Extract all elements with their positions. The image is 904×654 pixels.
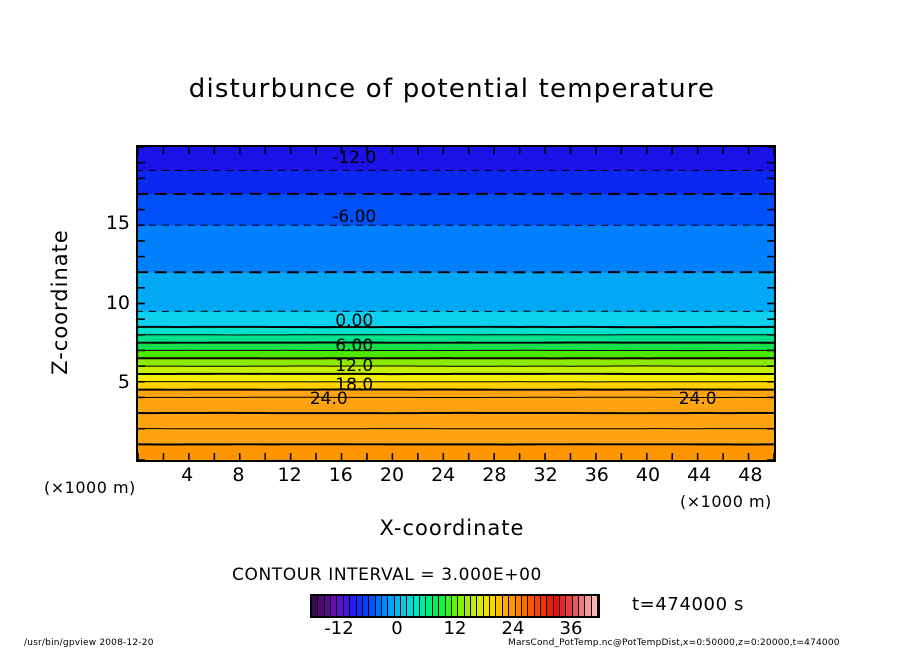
y-tick-label: 5: [90, 371, 130, 393]
colorbar-swatch: [592, 596, 598, 616]
footer-command: /usr/bin/gpview 2008-12-20: [24, 638, 154, 648]
contour-label-group: -12.0-6.000.006.0012.018.024.024.0: [138, 147, 774, 460]
contour-label: 0.00: [335, 311, 373, 331]
contour-label: -12.0: [332, 148, 376, 168]
x-tick-label: 36: [585, 464, 609, 486]
x-tick-label: 16: [329, 464, 353, 486]
contour-interval-text: CONTOUR INTERVAL = 3.000E+00: [232, 565, 542, 585]
y-axis-ticks: 51015: [86, 145, 130, 462]
colorbar-tick-label: 12: [444, 618, 467, 639]
colorbar-tick-label: 36: [560, 618, 583, 639]
colorbar-tick-label: 0: [391, 618, 402, 639]
x-axis-unit-label: (×1000 m): [680, 492, 772, 511]
x-tick-label: 40: [636, 464, 660, 486]
contour-interval-caption: CONTOUR INTERVAL = 3.000E+00: [0, 565, 904, 585]
contour-label: 6.00: [335, 336, 373, 356]
x-tick-label: 12: [278, 464, 302, 486]
footer-source: MarsCond_PotTemp.nc@PotTempDist,x=0:5000…: [508, 638, 840, 648]
colorbar-tick-label: -12: [324, 618, 353, 639]
x-tick-label: 32: [534, 464, 558, 486]
y-tick-label: 15: [90, 212, 130, 234]
contour-label: 24.0: [310, 389, 348, 409]
x-tick-label: 24: [431, 464, 455, 486]
colorbar-tick-labels: -120122436: [310, 618, 600, 640]
time-annotation: t=474000 s: [632, 594, 744, 615]
contour-plot-panel: -12.0-6.000.006.0012.018.024.024.0: [136, 145, 776, 462]
x-tick-label: 28: [482, 464, 506, 486]
page-title: disturbunce of potential temperature: [0, 74, 904, 104]
contour-label: 12.0: [335, 356, 373, 376]
x-tick-label: 4: [181, 464, 193, 486]
colorbar: -120122436: [310, 594, 600, 618]
y-axis-title: Z-coordinate: [48, 202, 72, 402]
x-tick-label: 8: [232, 464, 244, 486]
y-tick-label: 10: [90, 292, 130, 314]
y-axis-unit-label: (×1000 m): [44, 478, 136, 497]
colorbar-gradient: [310, 594, 600, 618]
contour-label: -6.00: [332, 207, 376, 227]
x-axis-title: X-coordinate: [0, 516, 904, 540]
contour-label: 24.0: [679, 389, 717, 409]
x-axis-ticks: 4812162024283236404448: [136, 464, 776, 490]
colorbar-tick-label: 24: [502, 618, 525, 639]
x-tick-label: 48: [738, 464, 762, 486]
x-tick-label: 44: [687, 464, 711, 486]
x-tick-label: 20: [380, 464, 404, 486]
